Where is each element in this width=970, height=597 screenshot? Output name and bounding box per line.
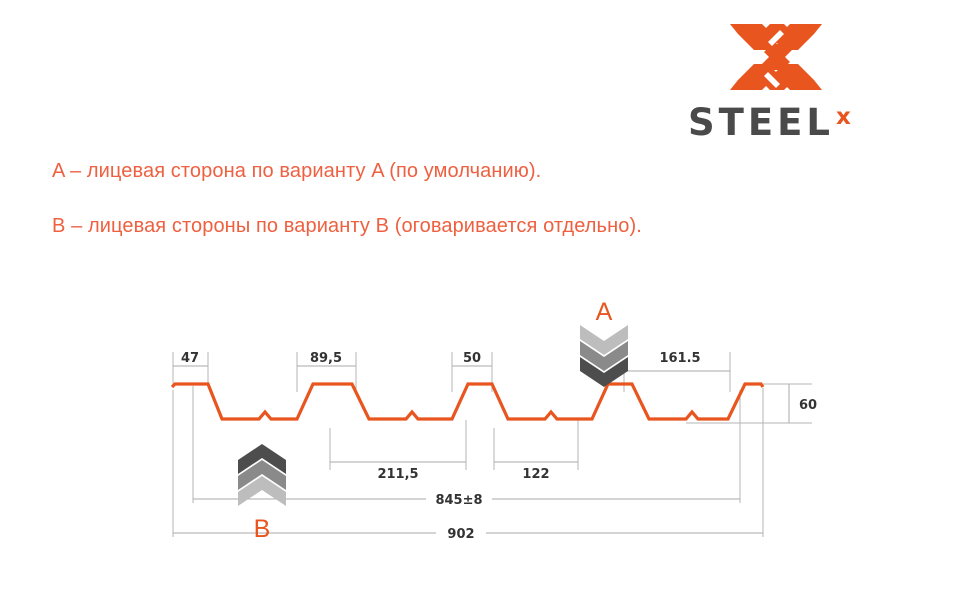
dimension-label-161-5: 161.5 — [659, 351, 700, 366]
corrugated-profile-outline — [172, 384, 763, 419]
dimension-mid-span-left: 211,5 — [330, 462, 466, 482]
dimension-top-right-span: 161.5 — [624, 351, 730, 371]
dimension-label-845: 845±8 — [435, 493, 482, 508]
dimension-height: 60 — [789, 384, 817, 423]
dimension-label-122: 122 — [522, 467, 549, 482]
dimension-mid-span-right: 122 — [494, 462, 578, 482]
dimension-top-crest-width: 47 — [173, 351, 208, 366]
marker-b-label: B — [254, 515, 271, 543]
dimension-top-rib-width: 50 — [452, 351, 492, 366]
marker-b: B — [238, 444, 286, 543]
dimension-label-60: 60 — [799, 398, 817, 413]
dimension-label-50: 50 — [463, 351, 481, 366]
marker-a: A — [580, 298, 628, 387]
dimension-label-89-5: 89,5 — [310, 351, 342, 366]
dimension-top-pitch: 89,5 — [297, 351, 356, 366]
marker-a-label: A — [596, 298, 613, 326]
profile-technical-drawing: 47 89,5 50 161.5 211,5 122 60 845±8 90 — [0, 0, 970, 597]
dimension-label-47: 47 — [181, 351, 199, 366]
witness-lines — [173, 352, 812, 537]
dimension-label-211-5: 211,5 — [377, 467, 418, 482]
dimension-label-902: 902 — [447, 527, 474, 542]
